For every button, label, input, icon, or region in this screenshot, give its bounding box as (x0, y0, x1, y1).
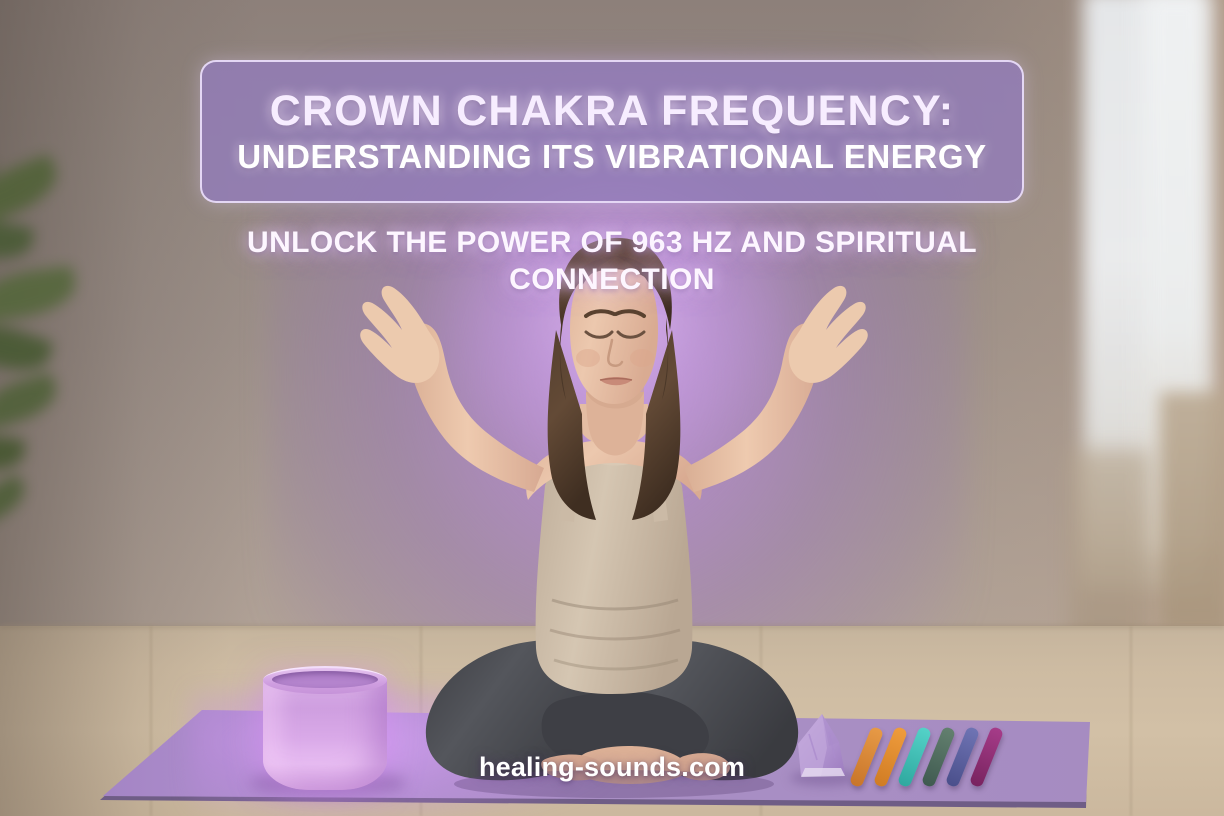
bowl-rim-inner (272, 671, 378, 688)
poster-canvas: CROWN CHAKRA FREQUENCY: UNDERSTANDING IT… (0, 0, 1224, 816)
title-banner: CROWN CHAKRA FREQUENCY: UNDERSTANDING IT… (200, 60, 1024, 203)
site-watermark: healing-sounds.com (0, 752, 1224, 783)
title-line-secondary: UNDERSTANDING ITS VIBRATIONAL ENERGY (237, 138, 986, 176)
subtitle-text: UNLOCK THE POWER OF 963 HZ AND SPIRITUAL… (162, 225, 1062, 298)
title-line-primary: CROWN CHAKRA FREQUENCY: (270, 87, 955, 136)
right-arm-raised (684, 286, 868, 492)
left-arm-raised (360, 286, 544, 492)
